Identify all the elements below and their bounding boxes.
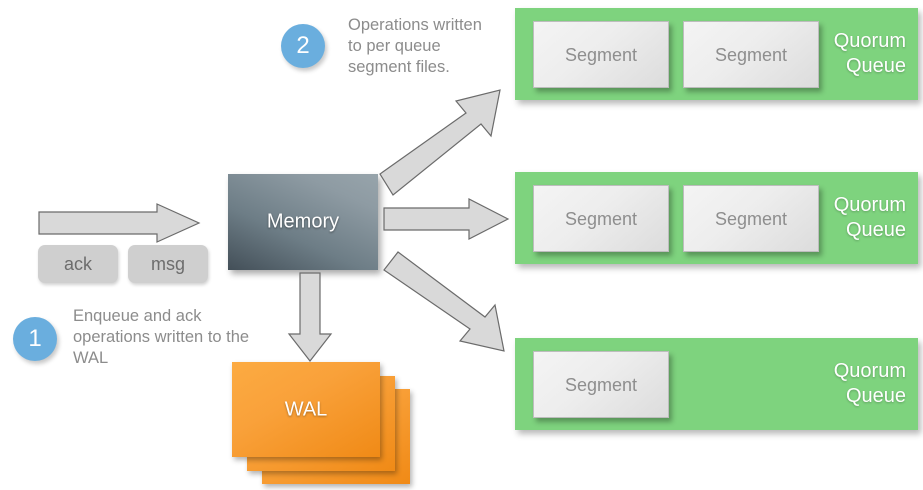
wal-card-front: WAL [232, 362, 380, 457]
arrow-input-to-memory [38, 203, 200, 243]
arrow-memory-to-queue-1 [378, 88, 508, 196]
arrow-memory-to-wal [288, 272, 332, 362]
quorum-queue-panel-1: Segment Segment Quorum Queue [515, 8, 918, 100]
diagram-canvas: 2 Operations written to per queue segmen… [0, 0, 923, 490]
step-badge-2: 2 [281, 24, 325, 68]
pill-msg: msg [128, 245, 208, 283]
wal-label: WAL [232, 398, 380, 421]
segment-box: Segment [533, 21, 669, 88]
segment-box: Segment [533, 185, 669, 252]
quorum-queue-panel-2: Segment Segment Quorum Queue [515, 172, 918, 264]
quorum-queue-title: Quorum Queue [834, 359, 906, 409]
step-caption-2: Operations written to per queue segment … [348, 15, 523, 78]
step-caption-1: Enqueue and ack operations written to th… [73, 306, 298, 369]
segment-box: Segment [683, 21, 819, 88]
quorum-queue-panel-3: Segment Quorum Queue [515, 338, 918, 430]
arrow-memory-to-queue-2 [383, 198, 509, 240]
wal-stack: WAL [232, 362, 410, 484]
arrow-memory-to-queue-3 [381, 250, 509, 355]
memory-label: Memory [228, 211, 378, 234]
memory-box: Memory [228, 174, 378, 270]
segment-box: Segment [533, 351, 669, 418]
quorum-queue-title: Quorum Queue [834, 29, 906, 79]
pill-ack: ack [38, 245, 118, 283]
quorum-queue-title: Quorum Queue [834, 193, 906, 243]
segment-box: Segment [683, 185, 819, 252]
step-badge-1: 1 [13, 317, 57, 361]
